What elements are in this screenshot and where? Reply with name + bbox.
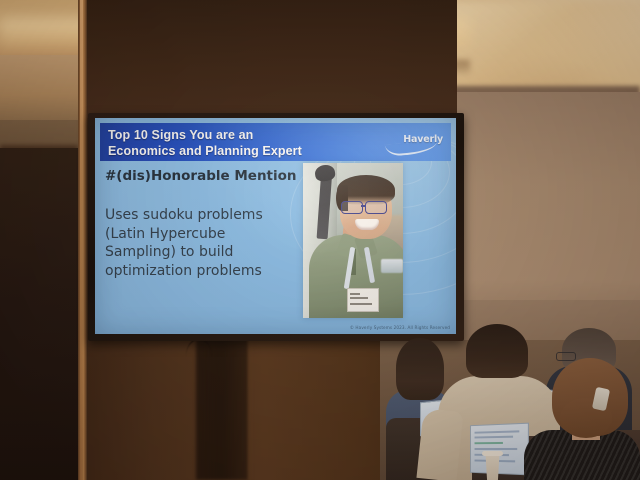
slide-copyright: © Haverly Systems 2023. All Rights Reser… — [350, 325, 450, 330]
attendee-dark-hair-left-head — [396, 338, 444, 400]
slide-title-line-2: Economics and Planning Expert — [108, 143, 302, 159]
slide-body-line-2: (Latin Hypercube — [105, 225, 305, 244]
pillar-dark-seam — [196, 336, 248, 480]
logo-text: Haverly — [403, 134, 443, 145]
slide-heading: #(dis)Honorable Mention — [105, 168, 297, 184]
presentation-slide[interactable]: Top 10 Signs You are an Economics and Pl… — [95, 118, 456, 334]
slide-title: Top 10 Signs You are an Economics and Pl… — [108, 127, 302, 159]
attendee-beige-shirt-arm — [416, 408, 463, 480]
slide-body-line-3: Sampling) to build — [105, 243, 305, 262]
left-dark-column — [0, 148, 78, 480]
attendee-beige-shirt-center-head — [466, 324, 528, 378]
wood-trim-highlight — [80, 0, 83, 480]
slide-body-line-4: optimization problems — [105, 262, 305, 281]
attendee-glasses-icon — [556, 352, 576, 361]
conference-room-photo: Top 10 Signs You are an Economics and Pl… — [0, 0, 640, 480]
speaker-portrait-photo — [303, 163, 403, 318]
slide-title-line-1: Top 10 Signs You are an — [108, 127, 302, 143]
haverly-logo: Haverly — [385, 134, 443, 156]
coffee-cup-rim — [482, 451, 503, 456]
pillar-upper-shadow — [87, 0, 457, 118]
portrait-glare — [303, 163, 403, 318]
laptop — [470, 423, 529, 476]
slide-body-line-1: Uses sudoku problems — [105, 206, 305, 225]
slide-title-bar: Top 10 Signs You are an Economics and Pl… — [100, 123, 451, 161]
pillar-seam — [248, 336, 252, 480]
slide-body-text: Uses sudoku problems (Latin Hypercube Sa… — [105, 206, 305, 280]
